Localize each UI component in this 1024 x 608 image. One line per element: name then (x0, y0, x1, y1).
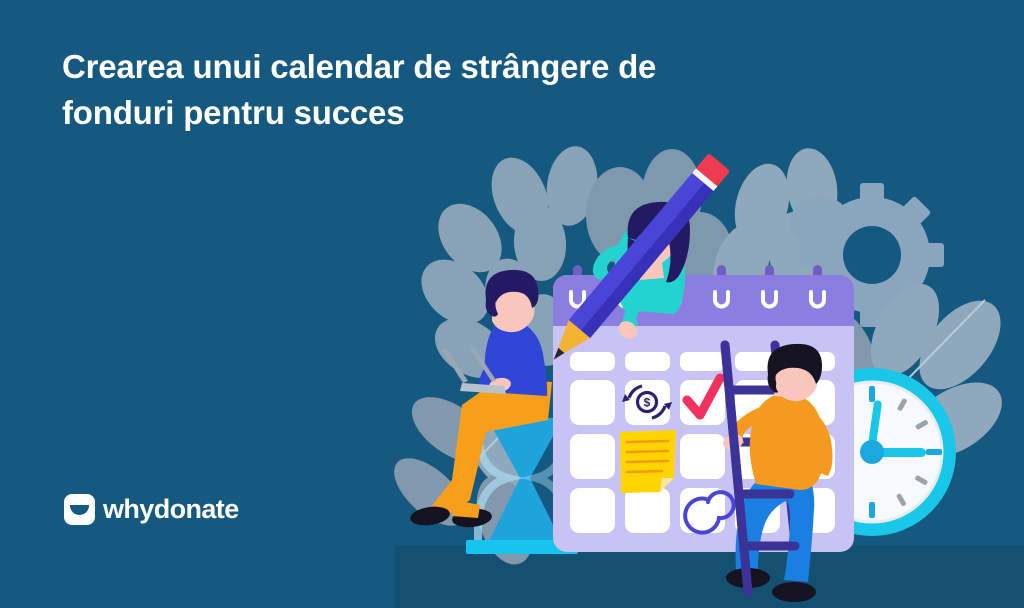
svg-text:$: $ (644, 395, 651, 409)
page-title: Crearea unui calendar de strângere de fo… (62, 44, 762, 136)
sticky-note-icon (620, 430, 676, 493)
brand-logo-label: whydonate (103, 494, 239, 525)
banner-root: $ (0, 0, 1024, 608)
brand-logo[interactable]: whydonate (64, 494, 239, 525)
whydonate-mark-icon (64, 494, 95, 525)
